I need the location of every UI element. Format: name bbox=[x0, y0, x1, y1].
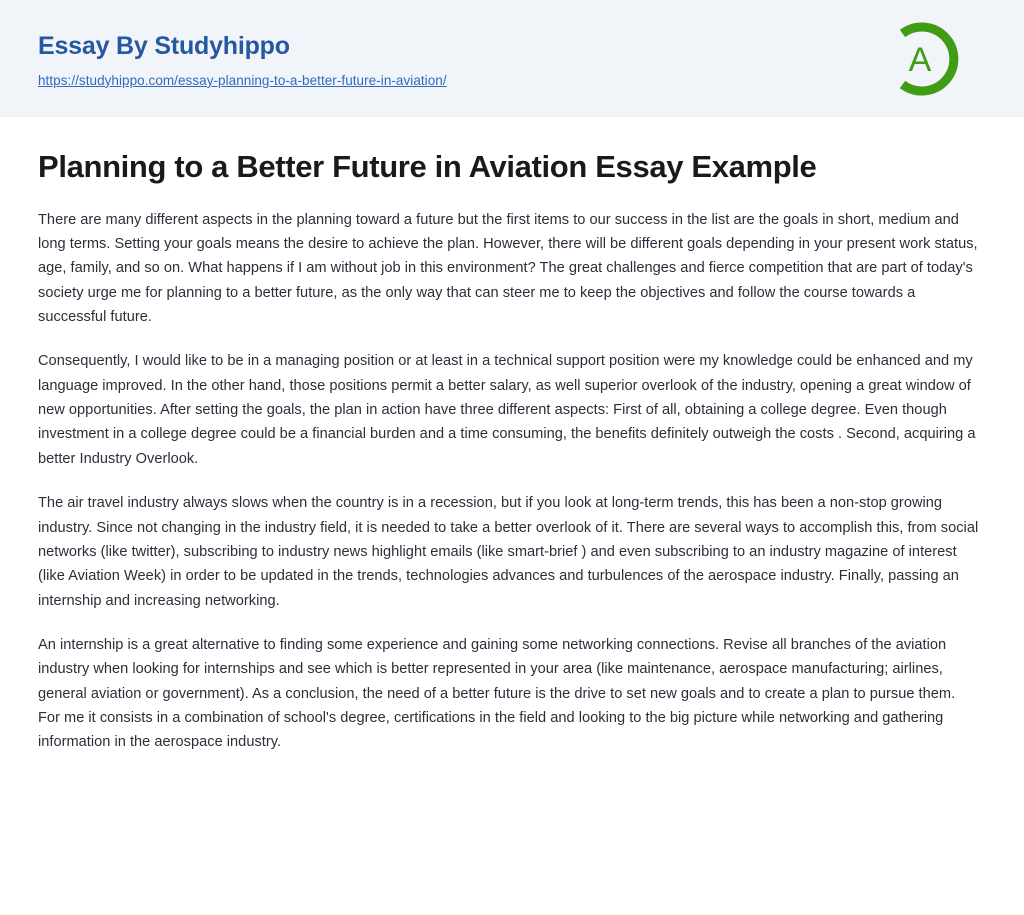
article-container: Planning to a Better Future in Aviation … bbox=[0, 149, 1024, 755]
studyhippo-a-ring-logo-icon[interactable]: A bbox=[884, 20, 962, 98]
article-paragraph: There are many different aspects in the … bbox=[38, 208, 980, 330]
article-paragraph: An internship is a great alternative to … bbox=[38, 633, 980, 755]
page-title: Planning to a Better Future in Aviation … bbox=[38, 149, 938, 186]
article-body: There are many different aspects in the … bbox=[38, 208, 980, 755]
site-header: Essay By Studyhippo https://studyhippo.c… bbox=[0, 0, 1024, 117]
article-paragraph: The air travel industry always slows whe… bbox=[38, 491, 980, 613]
source-url-link[interactable]: https://studyhippo.com/essay-planning-to… bbox=[38, 73, 447, 89]
site-title: Essay By Studyhippo bbox=[38, 32, 447, 61]
article-paragraph: Consequently, I would like to be in a ma… bbox=[38, 349, 980, 471]
header-text-block: Essay By Studyhippo https://studyhippo.c… bbox=[38, 28, 447, 89]
logo-letter: A bbox=[909, 41, 932, 79]
